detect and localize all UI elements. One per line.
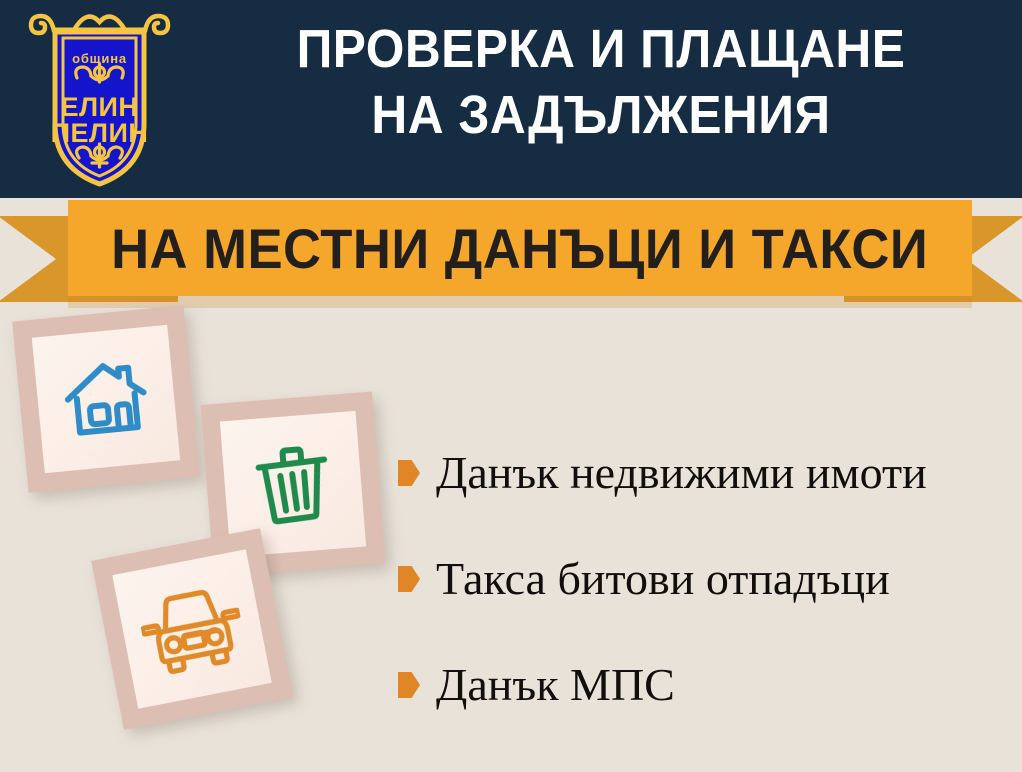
header-band: община ЕЛИН ПЕЛИН xyxy=(0,0,1022,198)
ribbon-shadow xyxy=(68,294,972,308)
stamp-card-vehicle xyxy=(91,528,293,730)
ribbon-label: НА МЕСТНИ ДАНЪЦИ И ТАКСИ xyxy=(111,216,928,281)
municipality-crest-logo: община ЕЛИН ПЕЛИН xyxy=(27,6,172,191)
arrow-bullet-icon xyxy=(398,566,420,592)
list-item[interactable]: Данък МПС xyxy=(398,632,1008,738)
arrow-bullet-icon xyxy=(398,460,420,486)
trash-bin-icon xyxy=(244,435,343,534)
list-item-label: Такса битови отпадъци xyxy=(436,554,890,604)
house-icon xyxy=(54,347,159,452)
poster-canvas: община ЕЛИН ПЕЛИН xyxy=(0,0,1022,772)
car-front-icon xyxy=(135,577,250,681)
subtitle-ribbon: НА МЕСТНИ ДАНЪЦИ И ТАКСИ xyxy=(0,198,1022,310)
list-item-label: Данък недвижими имоти xyxy=(436,448,927,498)
arrow-bullet-icon xyxy=(398,672,420,698)
stamp-inner-face xyxy=(32,325,180,473)
stamp-inner-face xyxy=(112,549,271,708)
stamp-card-property xyxy=(12,305,200,493)
page-title: ПРОВЕРКА И ПЛАЩАНЕ НА ЗАДЪЛЖЕНИЯ xyxy=(214,16,989,148)
list-item[interactable]: Такса битови отпадъци xyxy=(398,526,1008,632)
list-item[interactable]: Данък недвижими имоти xyxy=(398,420,1008,526)
page-title-line-1: ПРОВЕРКА И ПЛАЩАНЕ xyxy=(214,16,989,82)
page-title-line-2: НА ЗАДЪЛЖЕНИЯ xyxy=(214,82,989,148)
list-item-label: Данък МПС xyxy=(436,660,675,710)
ribbon-banner: НА МЕСТНИ ДАНЪЦИ И ТАКСИ xyxy=(68,200,972,296)
tax-type-list: Данък недвижими имоти Такса битови отпад… xyxy=(398,420,1008,738)
